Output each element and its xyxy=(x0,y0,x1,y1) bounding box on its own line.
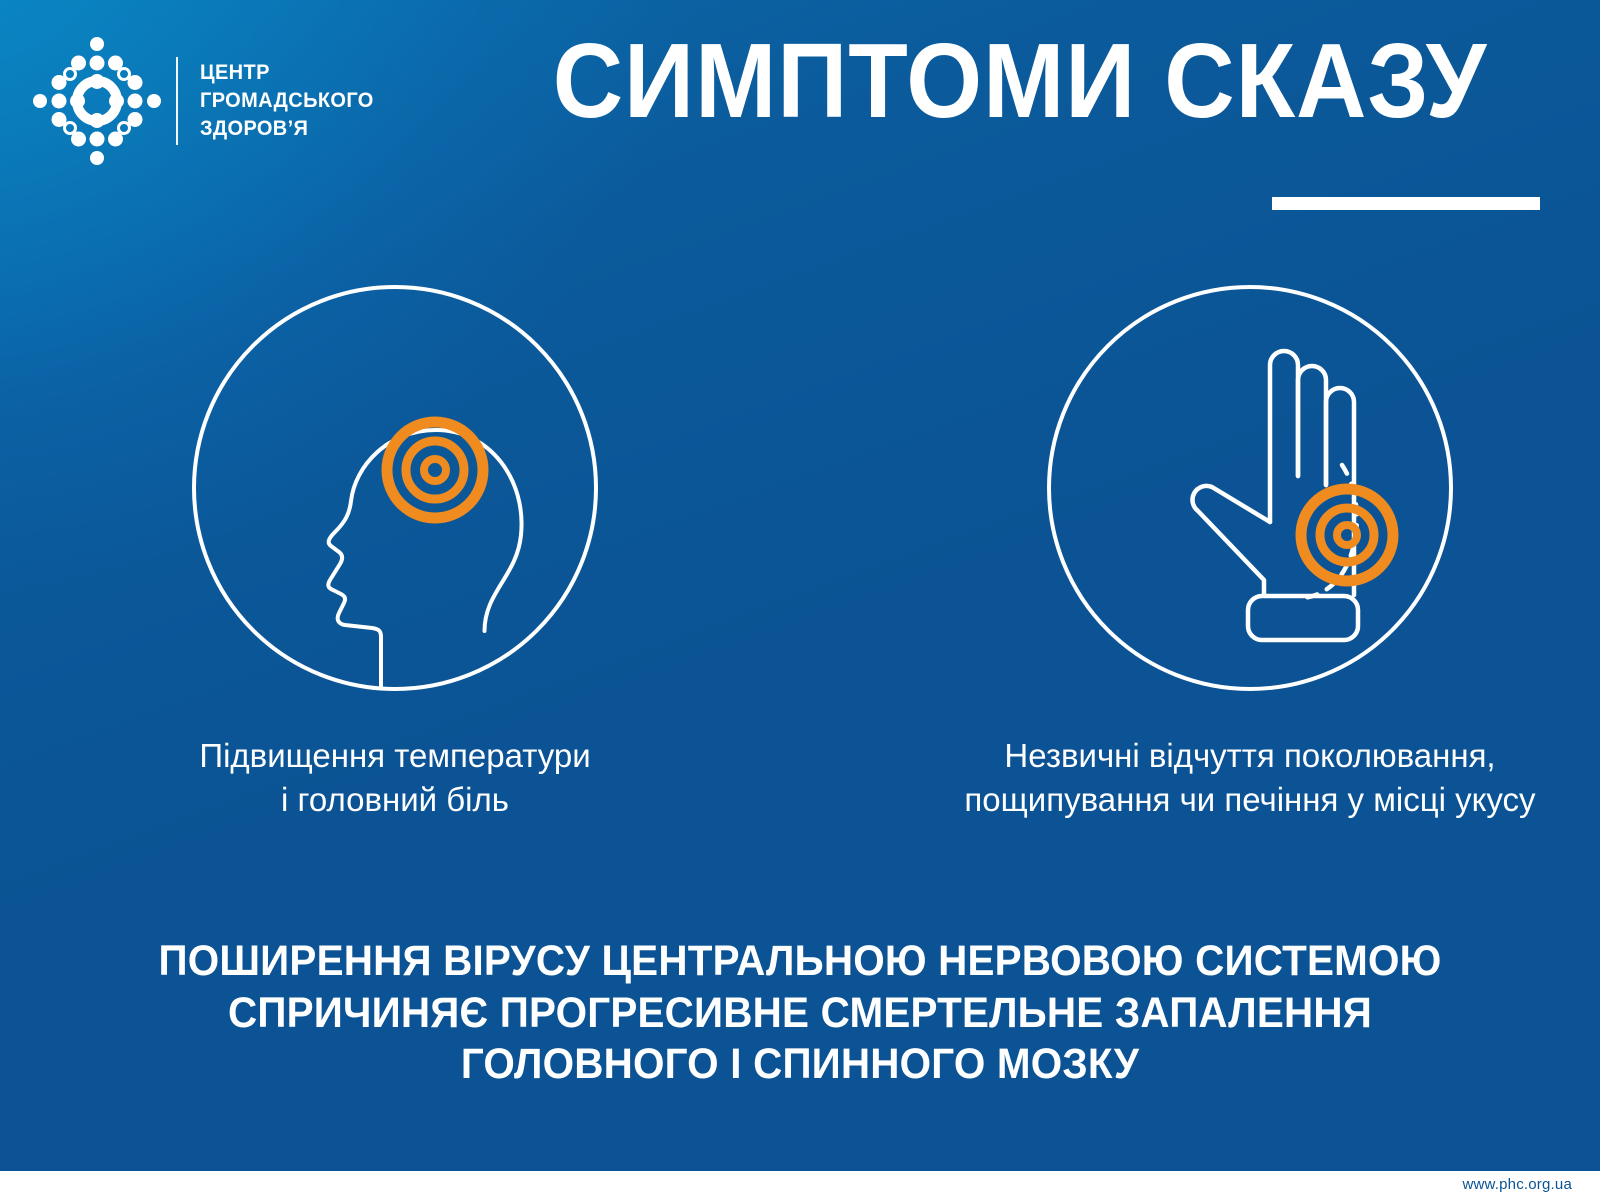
logo-line-1: ЦЕНТР xyxy=(200,59,374,87)
footer-website-url[interactable]: www.phc.org.ua xyxy=(1462,1176,1572,1193)
phc-dots-logo-icon xyxy=(30,34,164,168)
logo-line-2: ГРОМАДСЬКОГО xyxy=(200,87,374,115)
logo-wordmark: ЦЕНТР ГРОМАДСЬКОГО ЗДОРОВ’Я xyxy=(200,59,374,143)
page-title: СИМПТОМИ СКАЗУ xyxy=(514,28,1526,134)
head-fever-icon xyxy=(187,280,603,696)
footer-strip xyxy=(0,1171,1600,1201)
symptom-card-tingling: Незвичні відчуття поколювання, пощипуван… xyxy=(930,280,1570,822)
symptom-caption-tingling: Незвичні відчуття поколювання, пощипуван… xyxy=(930,734,1570,822)
symptom-caption-fever: Підвищення температури і головний біль xyxy=(160,734,630,822)
logo-divider xyxy=(176,57,178,145)
title-underline-rule xyxy=(1272,197,1540,210)
infographic-poster: ЦЕНТР ГРОМАДСЬКОГО ЗДОРОВ’Я СИМПТОМИ СКА… xyxy=(0,0,1600,1201)
logo-line-3: ЗДОРОВ’Я xyxy=(200,115,374,143)
hand-tingling-icon xyxy=(1042,280,1458,696)
statement-text: ПОШИРЕННЯ ВІРУСУ ЦЕНТРАЛЬНОЮ НЕРВОВОЮ СИ… xyxy=(104,936,1495,1091)
fever-target xyxy=(387,422,483,518)
phc-logo: ЦЕНТР ГРОМАДСЬКОГО ЗДОРОВ’Я xyxy=(30,34,387,168)
symptom-card-fever: Підвищення температури і головний біль xyxy=(160,280,630,822)
